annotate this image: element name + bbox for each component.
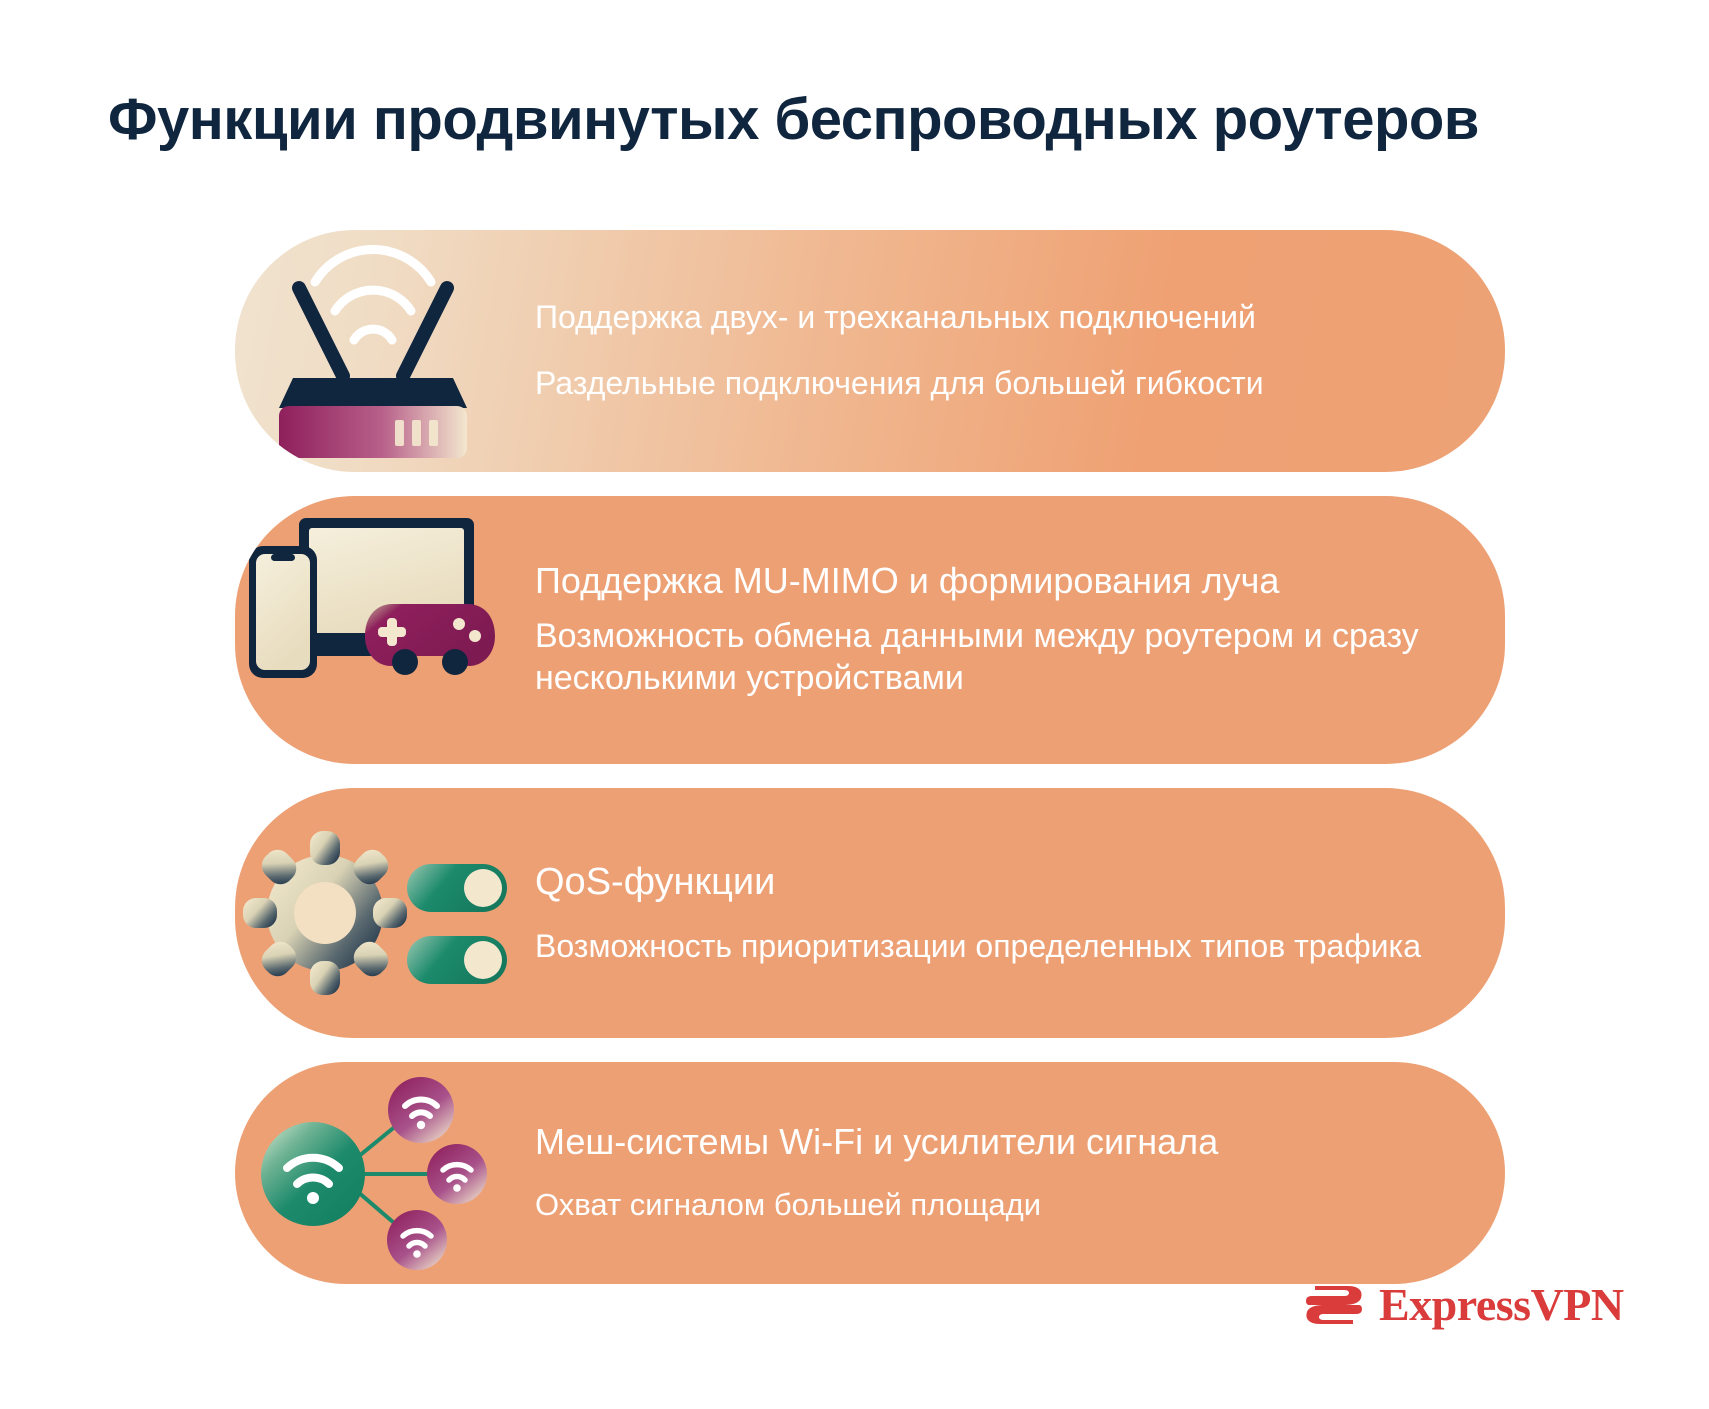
toggle-switch-top — [407, 864, 507, 912]
feature-card-qos: QoS-функции Возможность приоритизации оп… — [235, 788, 1505, 1038]
toggle-switch-bottom — [407, 936, 507, 984]
feature-card-mesh: Меш-системы Wi-Fi и усилители сигнала Ох… — [235, 1062, 1505, 1284]
multi-device-icon — [235, 496, 535, 764]
feature-card-list: Поддержка двух- и трехканальных подключе… — [235, 230, 1505, 1284]
expressvpn-logo: ExpressVPN — [1303, 1278, 1624, 1331]
expressvpn-wordmark: ExpressVPN — [1379, 1278, 1624, 1331]
card-text-block: QoS-функции Возможность приоритизации оп… — [535, 860, 1505, 967]
expressvpn-e-icon — [1303, 1280, 1365, 1330]
infographic-page: Функции продвинутых беспроводных роутеро… — [0, 0, 1709, 1409]
card-body: Раздельные подключения для большей гибко… — [535, 363, 1465, 403]
card-heading: QoS-функции — [535, 860, 1465, 905]
card-text-block: Поддержка двух- и трехканальных подключе… — [535, 299, 1505, 403]
wireless-router-icon — [235, 230, 535, 472]
card-body: Охват сигналом большей площади — [535, 1186, 1465, 1225]
card-body: Возможность обмена данными между роутеро… — [535, 615, 1465, 700]
card-heading: Поддержка MU-MIMO и формирования луча — [535, 560, 1465, 602]
card-body: Возможность приоритизации определенных т… — [535, 926, 1465, 966]
card-text-block: Меш-системы Wi-Fi и усилители сигнала Ох… — [535, 1121, 1505, 1224]
card-text-block: Поддержка MU-MIMO и формирования луча Во… — [535, 560, 1505, 699]
card-heading: Меш-системы Wi-Fi и усилители сигнала — [535, 1121, 1465, 1163]
page-title: Функции продвинутых беспроводных роутеро… — [108, 86, 1479, 153]
mesh-network-icon — [235, 1062, 535, 1284]
feature-card-mu-mimo: Поддержка MU-MIMO и формирования луча Во… — [235, 496, 1505, 764]
card-heading: Поддержка двух- и трехканальных подключе… — [535, 299, 1465, 337]
feature-card-router: Поддержка двух- и трехканальных подключе… — [235, 230, 1505, 472]
gear-toggles-icon — [235, 788, 535, 1038]
